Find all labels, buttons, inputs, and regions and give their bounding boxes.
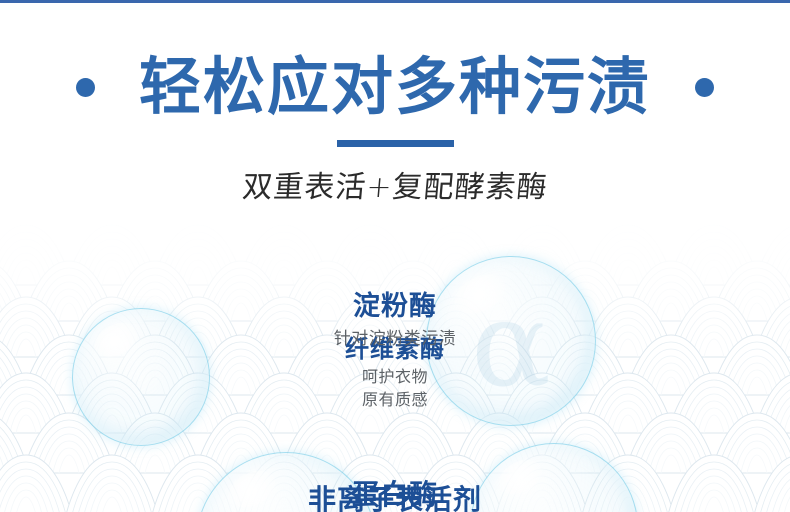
page-title: 轻松应对多种污渍 <box>139 48 651 126</box>
page-subtitle: 双重表活+复配酵素酶 <box>0 168 790 208</box>
bullet-dot-right-icon <box>695 78 714 97</box>
promo-banner: 轻松应对多种污渍 双重表活+复配酵素酶 纤维素酶 呵护衣物 原有质感 α 淀粉酶… <box>0 0 790 512</box>
bubble-highlight-icon <box>448 266 512 321</box>
title-row: 轻松应对多种污渍 <box>0 48 790 126</box>
title-underline <box>337 140 454 147</box>
bubble-highlight-icon <box>222 463 281 512</box>
alpha-watermark: α <box>427 285 595 403</box>
bubble-cellulase <box>72 308 210 446</box>
bubble-highlight-icon <box>493 453 548 501</box>
bullet-dot-left-icon <box>76 78 95 97</box>
bubble-highlight-icon <box>89 316 144 364</box>
bubble-amylase: α <box>426 256 596 426</box>
header-section: 轻松应对多种污渍 双重表活+复配酵素酶 <box>0 0 790 215</box>
